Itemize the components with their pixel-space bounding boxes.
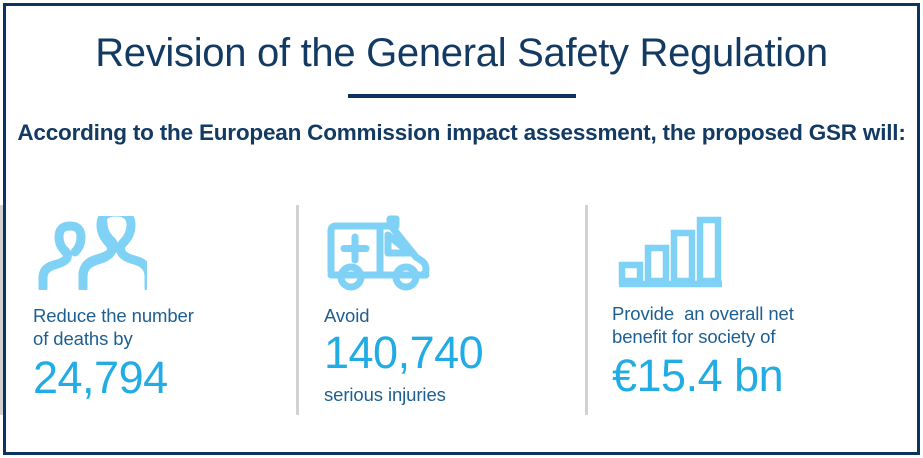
stat-text-deaths: Reduce the number of deaths by 24,794 xyxy=(33,301,296,402)
stat-card-injuries: Avoid 140,740 serious injuries xyxy=(296,205,585,415)
stat-card-benefit: Provide an overall net benefit for socie… xyxy=(585,205,923,415)
stat-value-benefit: €15.4 bn xyxy=(612,349,923,401)
stat-text-injuries: Avoid 140,740 serious injuries xyxy=(324,301,585,406)
ambulance-icon xyxy=(324,205,585,301)
stat-text-benefit: Provide an overall net benefit for socie… xyxy=(612,301,923,400)
stat-label-benefit: Provide an overall net benefit for socie… xyxy=(612,301,923,349)
two-people-icon xyxy=(33,205,296,301)
infographic-poster: Revision of the General Safety Regulatio… xyxy=(0,0,923,458)
bar-chart-icon xyxy=(612,205,923,301)
poster-header: Revision of the General Safety Regulatio… xyxy=(0,0,923,146)
stat-label-deaths: Reduce the number of deaths by xyxy=(33,301,296,351)
stat-label-injuries-top: Avoid xyxy=(324,301,585,328)
stat-value-deaths: 24,794 xyxy=(33,351,296,403)
page-subtitle: According to the European Commission imp… xyxy=(0,98,923,146)
stat-value-injuries: 140,740 xyxy=(324,328,585,378)
stat-card-deaths: Reduce the number of deaths by 24,794 xyxy=(0,205,296,415)
stats-row: Reduce the number of deaths by 24,794 xyxy=(0,205,923,415)
stat-label-injuries-bottom: serious injuries xyxy=(324,378,585,407)
page-title: Revision of the General Safety Regulatio… xyxy=(0,0,923,76)
